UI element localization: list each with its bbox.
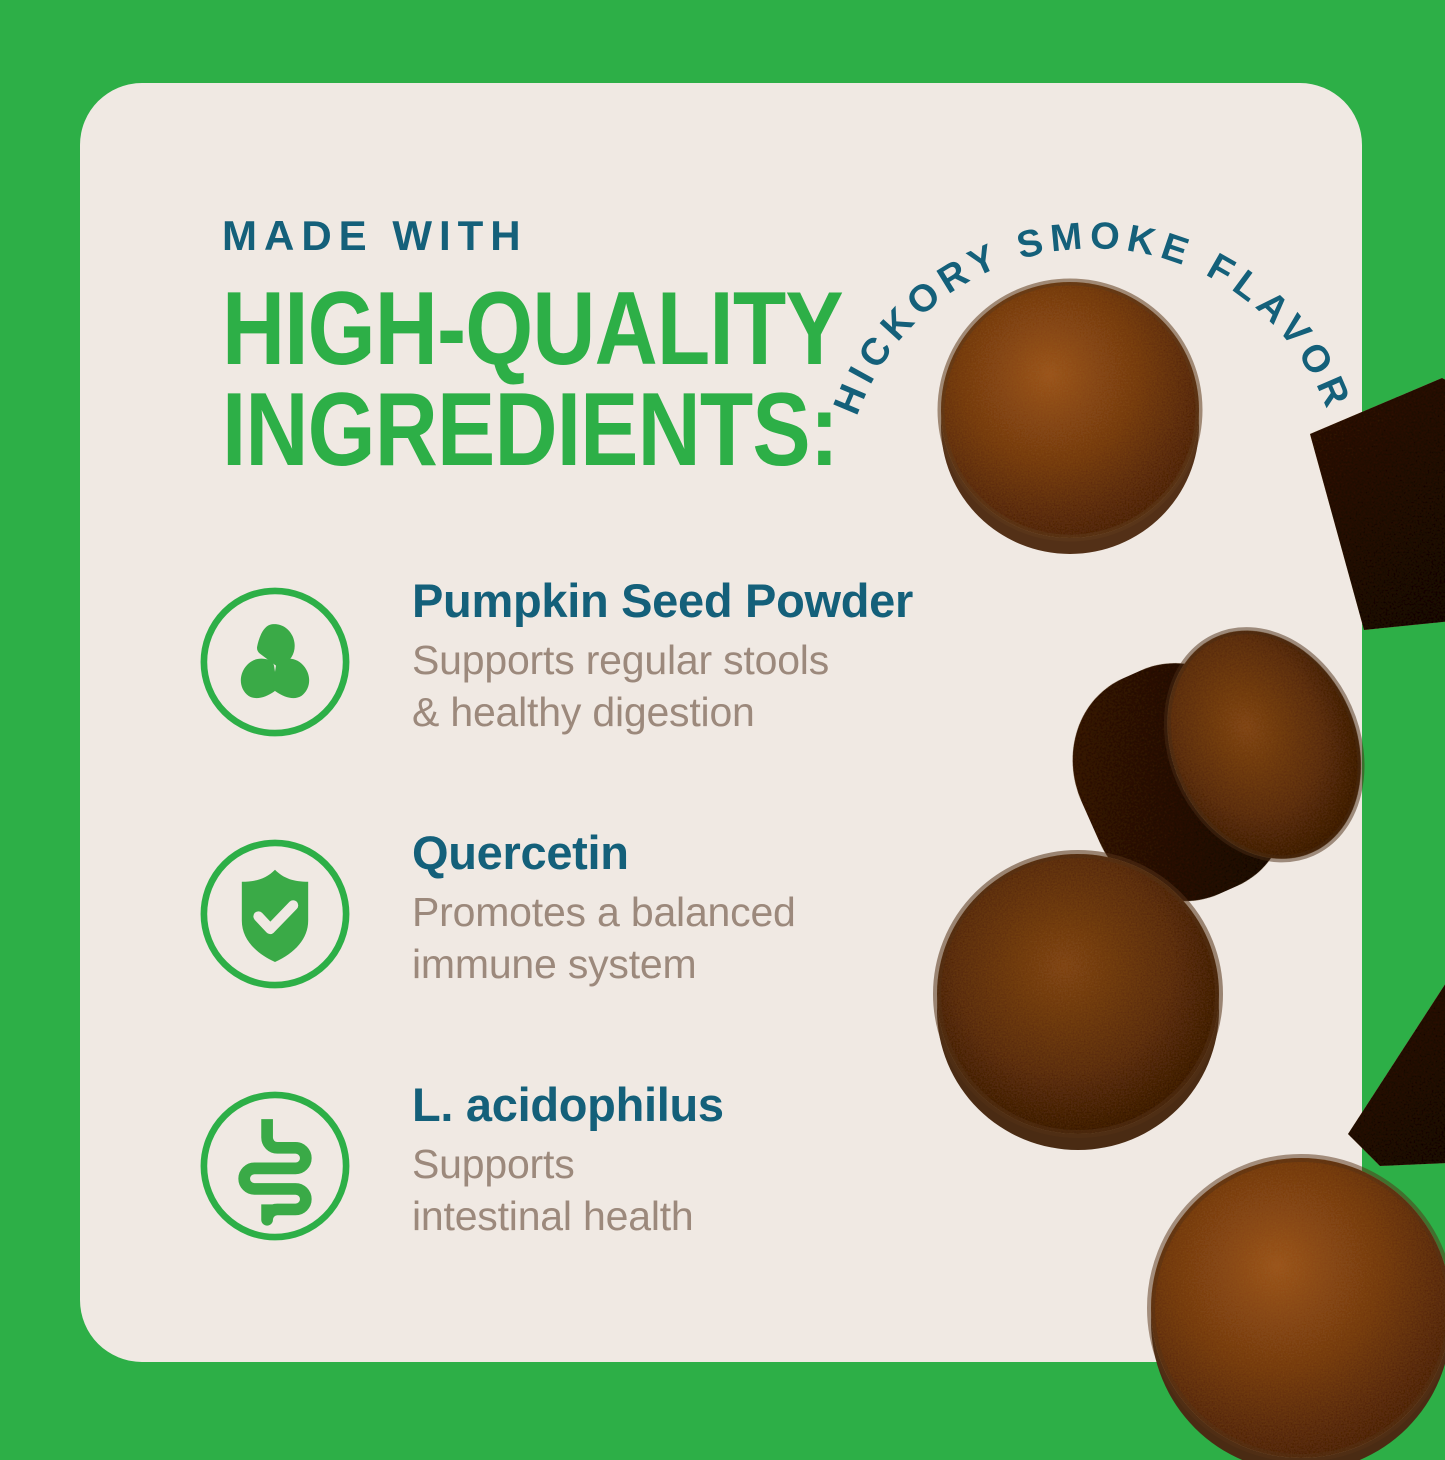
list-item: Pumpkin Seed Powder Supports regular sto…: [196, 575, 1066, 827]
chew-center-disc: [928, 838, 1228, 1152]
chew-right-wedge-lower: [1340, 930, 1445, 1170]
headline-block: MADE WITH HIGH-QUALITY INGREDIENTS:: [222, 215, 1052, 481]
ingredient-text: Pumpkin Seed Powder Supports regular sto…: [412, 575, 1052, 738]
eyebrow-text: MADE WITH: [222, 215, 1052, 257]
ingredient-description: Supports regular stools & healthy digest…: [412, 634, 1052, 738]
pumpkin-seeds-icon: [196, 583, 354, 741]
chew-bottom-disc: [1146, 1150, 1445, 1460]
intestine-icon: [196, 1087, 354, 1245]
page-title: HIGH-QUALITY INGREDIENTS:: [222, 279, 919, 481]
chew-top-disc: [930, 268, 1210, 562]
ingredient-description: Supports intestinal health: [412, 1138, 1052, 1242]
chew-right-wedge-upper: [1292, 372, 1445, 640]
shield-check-icon: [196, 835, 354, 993]
ingredient-name: Pumpkin Seed Powder: [412, 575, 1052, 628]
